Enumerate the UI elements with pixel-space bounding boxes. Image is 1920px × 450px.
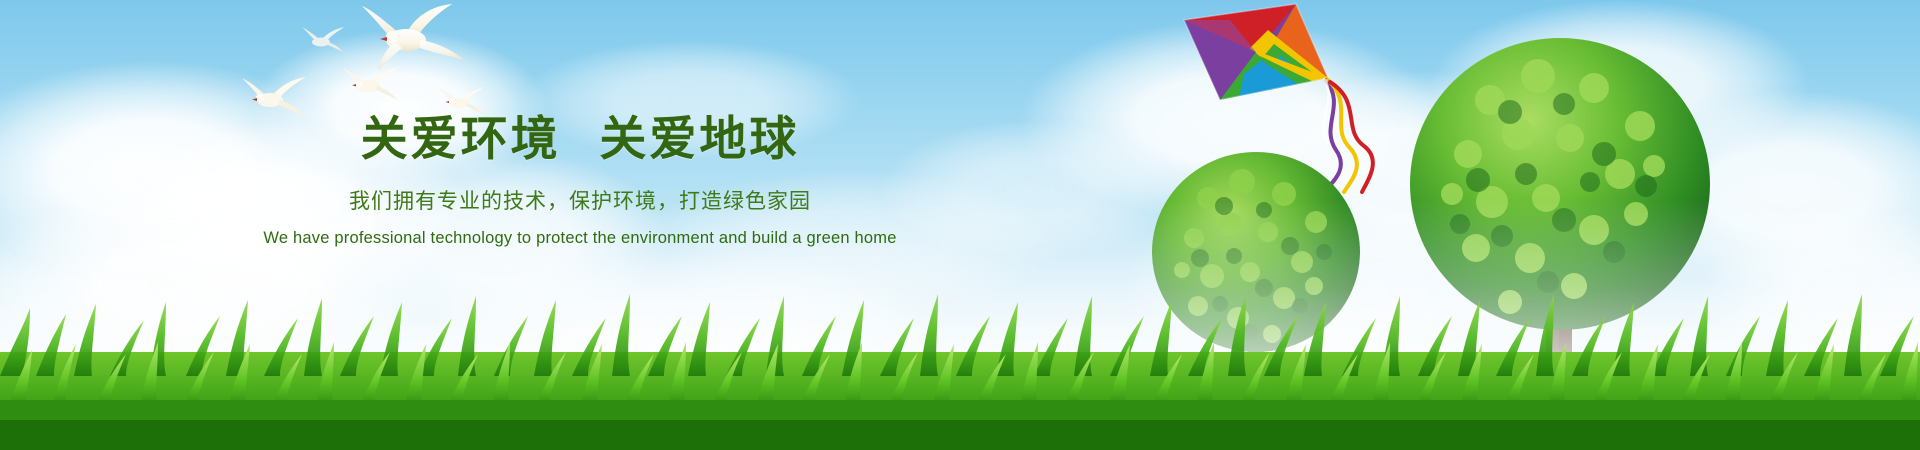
subtitle-chinese: 我们拥有专业的技术，保护环境，打造绿色家园 [0,185,1160,215]
subtitle-english: We have professional technology to prote… [0,229,1160,248]
hero-banner: 关爱环境 关爱地球 我们拥有专业的技术，保护环境，打造绿色家园 We have … [0,0,1920,450]
grass-strip [0,280,1920,450]
page-title: 关爱环境 关爱地球 [0,112,1160,167]
banner-copy: 关爱环境 关爱地球 我们拥有专业的技术，保护环境，打造绿色家园 We have … [0,112,1160,248]
dove-icon [356,4,468,72]
dove-icon [340,66,402,104]
dove-icon [300,26,346,56]
